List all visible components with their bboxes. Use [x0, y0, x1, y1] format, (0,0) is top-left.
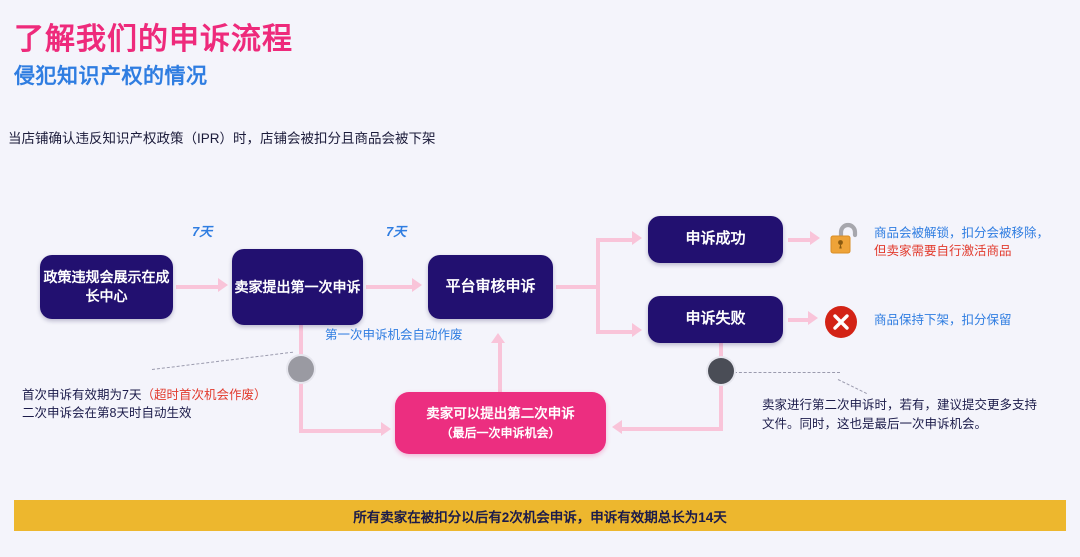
leader-line-right-h [734, 372, 840, 373]
arrowhead-to-success [632, 231, 642, 245]
arrowhead-fail-to-icon [808, 311, 818, 325]
node-second-appeal-label: 卖家可以提出第二次申诉 [426, 405, 575, 423]
node-appeal-fail-label: 申诉失败 [685, 309, 745, 329]
node-appeal-success[interactable]: 申诉成功 [648, 216, 783, 263]
connector-to-success [596, 238, 634, 242]
note-left-line-1-text: 首次申诉有效期为7天 [22, 388, 141, 402]
node-policy-violation[interactable]: 政策违规会展示在成长中心 [40, 255, 173, 319]
node-appeal-fail[interactable]: 申诉失败 [648, 296, 783, 343]
outcome-success-text: 商品会被解锁，扣分会被移除， 但卖家需要自行激活商品 [874, 224, 1049, 260]
page-title: 了解我们的申诉流程 [14, 14, 293, 58]
arrowhead-first-to-review [412, 278, 422, 292]
note-left-line-2: 二次申诉会在第8天时自动生效 [22, 404, 266, 422]
page-subtitle: 侵犯知识产权的情况 [14, 60, 208, 90]
note-right: 卖家进行第二次申诉时，若有，建议提交更多支持文件。同时，这也是最后一次申诉机会。 [762, 396, 1042, 434]
bottom-banner-text: 所有卖家在被扣分以后有2次机会申诉，申诉有效期总长为14天 [353, 506, 727, 526]
connector-review-out [556, 285, 600, 289]
leader-line-right-diag [838, 379, 867, 394]
node-second-appeal[interactable]: 卖家可以提出第二次申诉 （最后一次申诉机会） [395, 392, 606, 454]
edge-label-days-2: 7天 [386, 221, 406, 240]
node-platform-review-label: 平台审核申诉 [445, 277, 535, 297]
arrowhead-second-to-review [491, 333, 505, 343]
outcome-success-line-1: 商品会被解锁，扣分会被移除， [874, 224, 1049, 242]
bottom-banner: 所有卖家在被扣分以后有2次机会申诉，申诉有效期总长为14天 [14, 500, 1066, 531]
slide-canvas: 了解我们的申诉流程 侵犯知识产权的情况 当店铺确认违反知识产权政策（IPR）时，… [0, 0, 1080, 557]
note-left: 首次申诉有效期为7天（超时首次机会作废） 二次申诉会在第8天时自动生效 [22, 386, 266, 422]
connector-first-to-second [299, 429, 383, 433]
outcome-fail-text: 商品保持下架，扣分保留 [874, 311, 1012, 329]
node-platform-review[interactable]: 平台审核申诉 [428, 255, 553, 319]
connector-success-to-icon [788, 238, 812, 242]
arrowhead-fail-to-second [612, 420, 622, 434]
outcome-fail-line-1: 商品保持下架，扣分保留 [874, 311, 1012, 329]
annotation-dot-right[interactable] [708, 358, 734, 384]
arrowhead-success-to-icon [810, 231, 820, 245]
connector-fail-to-icon [788, 318, 810, 322]
node-first-appeal[interactable]: 卖家提出第一次申诉 [232, 249, 363, 325]
annotation-dot-left[interactable] [288, 356, 314, 382]
edge-label-days-1: 7天 [192, 221, 212, 240]
cross-circle-icon [824, 305, 858, 339]
outcome-success-line-2: 但卖家需要自行激活商品 [874, 242, 1049, 260]
node-appeal-success-label: 申诉成功 [685, 229, 745, 249]
connector-split-bus [596, 238, 600, 334]
intro-text: 当店铺确认违反知识产权政策（IPR）时，店铺会被扣分且商品会被下架 [8, 127, 436, 147]
arrowhead-first-to-second [381, 422, 391, 436]
note-left-line-1: 首次申诉有效期为7天（超时首次机会作废） [22, 386, 266, 404]
node-policy-label: 政策违规会展示在成长中心 [40, 268, 173, 306]
note-left-line-1-warning: （超时首次机会作废） [141, 388, 266, 402]
node-first-appeal-label: 卖家提出第一次申诉 [235, 278, 361, 297]
connector-fail-down [719, 343, 723, 431]
arrowhead-policy-to-first [218, 278, 228, 292]
connector-second-up [498, 343, 502, 395]
connector-first-to-review [366, 285, 412, 289]
edge-label-auto-void: 第一次申诉机会自动作废 [325, 324, 463, 343]
arrowhead-to-fail [632, 323, 642, 337]
node-second-appeal-sublabel: （最后一次申诉机会） [440, 425, 560, 441]
connector-to-fail [596, 330, 634, 334]
connector-fail-to-second [622, 427, 723, 431]
connector-policy-to-first [176, 285, 218, 289]
leader-line-left [152, 352, 293, 370]
unlock-icon [828, 222, 862, 258]
